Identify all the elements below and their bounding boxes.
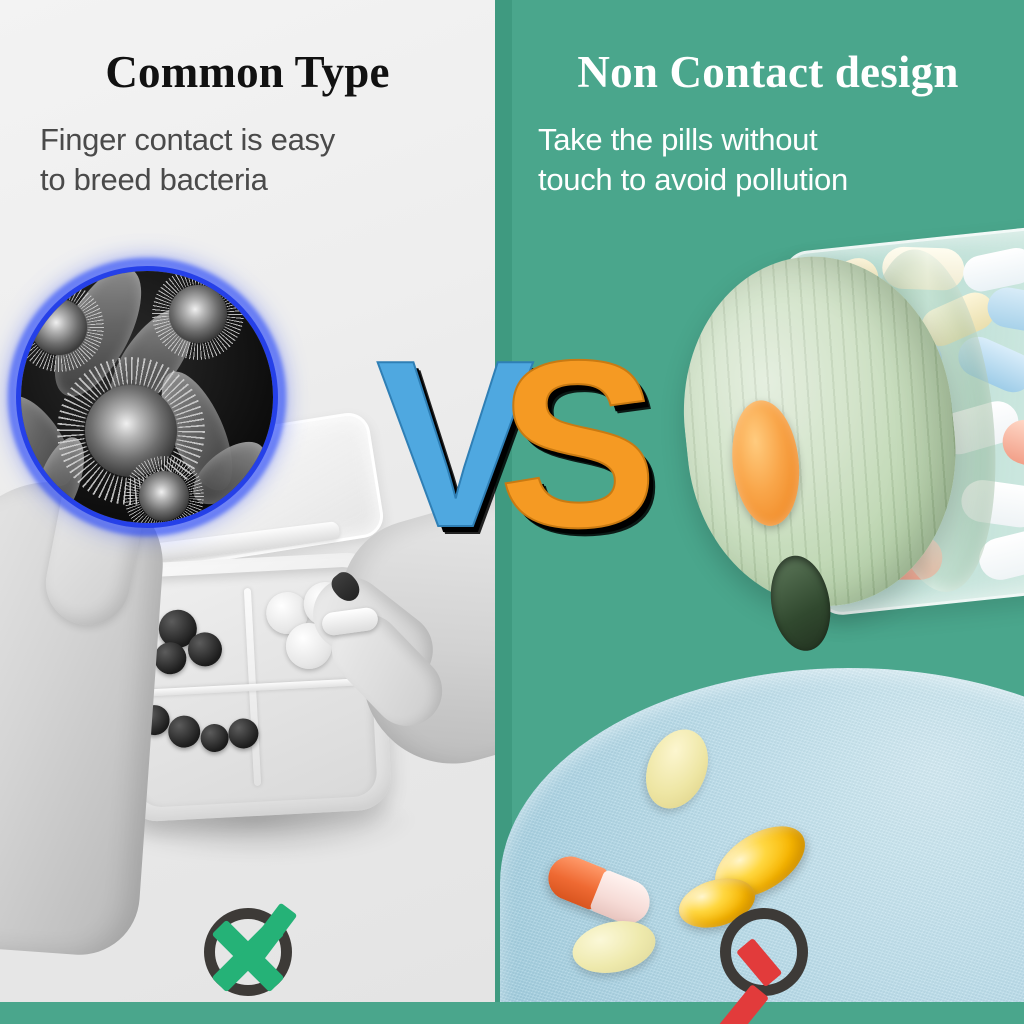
check-mark-icon — [722, 906, 818, 998]
pill-dark — [154, 641, 188, 675]
pill-capsule-orange-white — [542, 850, 657, 931]
left-subtitle: Finger contact is easy to breed bacteria — [0, 120, 495, 201]
right-subtitle: Take the pills without touch to avoid po… — [512, 120, 1024, 201]
pill-dark — [200, 723, 229, 752]
right-verdict-check-icon — [706, 900, 822, 1008]
left-title: Common Type — [0, 46, 495, 98]
left-subtitle-line-2: to breed bacteria — [40, 160, 481, 200]
comparison-infographic: Common Type Finger contact is easy to br… — [0, 0, 1024, 1024]
right-subtitle-line-2: touch to avoid pollution — [538, 160, 1018, 200]
left-verdict-x-icon — [190, 900, 306, 1002]
vs-letter-s: S — [499, 326, 644, 564]
pill-tablet-yellow — [635, 720, 719, 818]
bacteria-coccus — [31, 299, 87, 355]
pill-tablet-cream — [568, 914, 661, 980]
pill-dark — [167, 715, 201, 749]
bacteria-magnifier — [8, 258, 286, 536]
left-panel-header: Common Type Finger contact is easy to br… — [0, 0, 495, 201]
bacteria-coccus — [169, 285, 227, 343]
dispenser-orange-button[interactable] — [726, 397, 805, 529]
right-title: Non Contact design — [512, 46, 1024, 98]
bacteria-microscopy-view — [21, 271, 273, 523]
left-subtitle-line-1: Finger contact is easy — [40, 120, 481, 160]
check-short-stroke — [736, 938, 782, 987]
bottom-frame-bar — [0, 1002, 1024, 1024]
stored-pill — [960, 245, 1024, 295]
stored-pill — [984, 284, 1024, 337]
pill-dark — [187, 632, 223, 668]
right-subtitle-line-1: Take the pills without — [538, 120, 1018, 160]
bacteria-coccus — [139, 471, 189, 521]
vs-badge: VS — [376, 326, 644, 564]
non-contact-dispenser — [661, 216, 1024, 646]
